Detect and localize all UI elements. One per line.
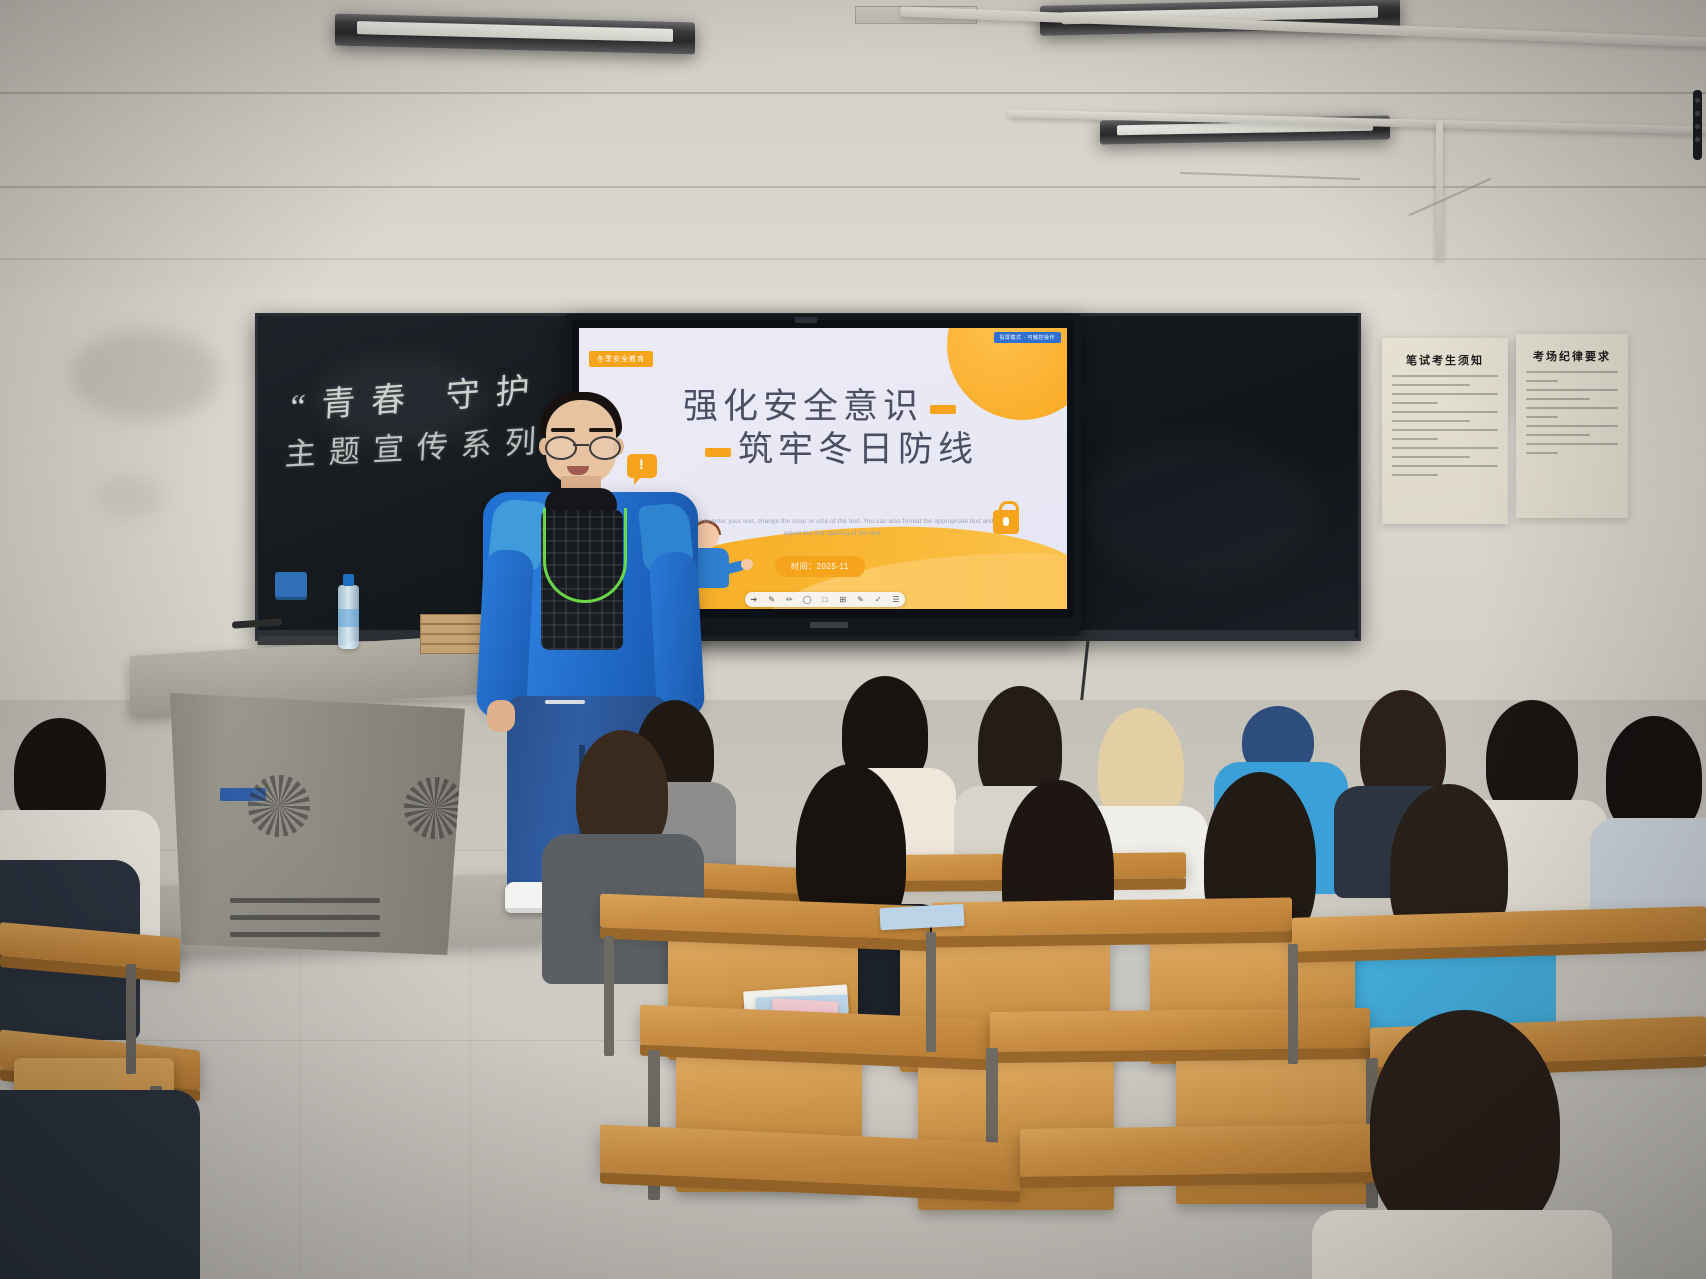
- worksheet-blue[interactable]: [879, 904, 964, 930]
- laptop: [257, 636, 351, 645]
- desk-row-front: [990, 1008, 1370, 1052]
- student-seat-foreground: [0, 1090, 190, 1279]
- check-icon[interactable]: ✓: [874, 595, 883, 604]
- slide-title-line2: 筑牢冬日防线: [738, 430, 978, 469]
- highlighter-icon[interactable]: ✏: [785, 595, 794, 604]
- water-bottle: [338, 585, 359, 649]
- pen-icon[interactable]: ✎: [767, 595, 776, 604]
- slide-date-badge: 时间：2025-11: [775, 556, 865, 577]
- eraser-icon[interactable]: ◯: [803, 595, 812, 604]
- poster-title-secondary: 考场纪律要求: [1516, 348, 1628, 364]
- lectern: [130, 645, 490, 955]
- student-seat: [1366, 784, 1536, 1024]
- ceiling-light-1: [335, 14, 695, 55]
- books-stack: [420, 614, 480, 650]
- shape-icon[interactable]: □: [820, 595, 829, 604]
- slide-title-line1: 强化安全意识: [683, 387, 923, 426]
- desk-leg: [1288, 944, 1298, 1064]
- exam-notice-poster: 笔试考生须知: [1382, 338, 1508, 524]
- student-seat-left: [0, 800, 130, 1030]
- desk-row-middle: [932, 897, 1292, 936]
- desk-leg: [926, 932, 936, 1052]
- cursor-icon[interactable]: ➔: [749, 595, 758, 604]
- classroom-scene: “青春 守护 秦岭” 主题宣传系列活动 冬季安全教育 投屏模式 · 可触控操作 …: [0, 0, 1706, 1279]
- slide-topic-badge: 冬季安全教育: [589, 351, 653, 367]
- dash-accent-1: [930, 405, 956, 414]
- ceiling: [0, 0, 1706, 300]
- lanyard: [543, 508, 627, 603]
- exam-notice-poster-secondary: 考场纪律要求: [1516, 334, 1628, 518]
- note-icon[interactable]: ✎: [856, 595, 865, 604]
- slide-annotation-toolbar[interactable]: ➔ ✎ ✏ ◯ □ ⊞ ✎ ✓ ☰: [745, 592, 905, 607]
- poster-title: 笔试考生须知: [1382, 352, 1508, 368]
- screen-brand-logo: [810, 622, 848, 628]
- dash-accent-2: [705, 448, 731, 457]
- blackboard-magnet: [275, 572, 307, 600]
- slide-subtitle: Click here to enter your text, change th…: [669, 516, 997, 540]
- desk-leg: [604, 936, 614, 1056]
- more-icon[interactable]: ☰: [892, 595, 901, 604]
- screen-camera-icon: [795, 317, 817, 323]
- select-icon[interactable]: ⊞: [838, 595, 847, 604]
- glasses-icon: [545, 436, 617, 456]
- desk-leg: [126, 964, 136, 1074]
- slide-mode-badge: 投屏模式 · 可触控操作: [994, 332, 1061, 343]
- screen-side-buttons[interactable]: [1693, 90, 1702, 160]
- student-seat: [1596, 716, 1706, 896]
- student-seat-foreground: [1336, 1010, 1596, 1279]
